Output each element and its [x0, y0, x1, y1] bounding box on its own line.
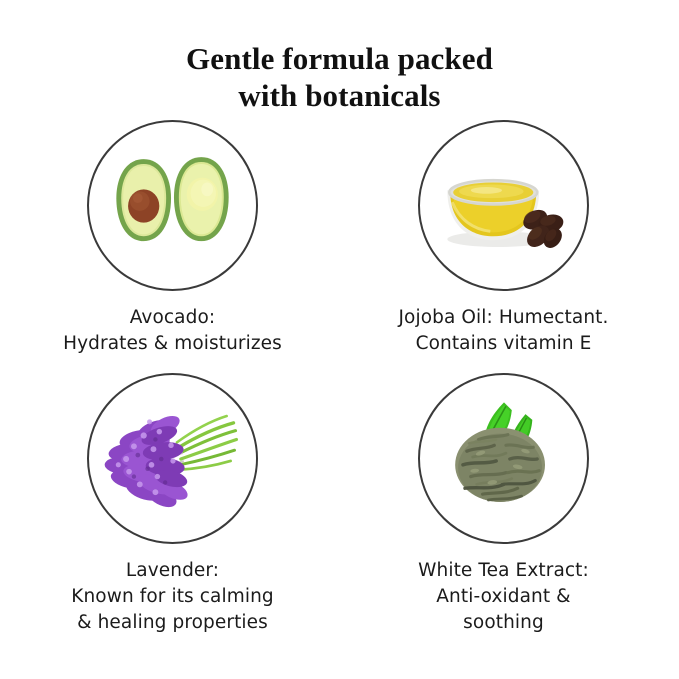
ingredient-caption-avocado: Avocado: Hydrates & moisturizes	[3, 305, 342, 357]
page-title-line-1: Gentle formula packed	[0, 40, 679, 77]
ingredient-circle-lavender	[87, 373, 258, 544]
ingredient-caption-lavender: Lavender: Known for its calming & healin…	[3, 558, 342, 636]
caption-line: Contains vitamin E	[334, 331, 673, 357]
ingredient-card-white-tea-extract: White Tea Extract: Anti-oxidant & soothi…	[334, 365, 673, 636]
ingredient-circle-white-tea-extract	[418, 373, 589, 544]
caption-line: & healing properties	[3, 610, 342, 636]
avocado-halves-icon	[89, 122, 256, 289]
ingredient-caption-jojoba-oil: Jojoba Oil: Humectant. Contains vitamin …	[334, 305, 673, 357]
dried-tea-leaves-icon	[420, 375, 587, 542]
oil-bowl-with-seeds-icon	[420, 122, 587, 289]
ingredient-caption-white-tea-extract: White Tea Extract: Anti-oxidant & soothi…	[334, 558, 673, 636]
caption-line: Lavender:	[3, 558, 342, 584]
lavender-bouquet-icon	[89, 375, 256, 542]
caption-line: Avocado:	[3, 305, 342, 331]
page-title: Gentle formula packed with botanicals	[0, 40, 679, 114]
ingredient-circle-jojoba-oil	[418, 120, 589, 291]
caption-line: Anti-oxidant &	[334, 584, 673, 610]
caption-line: Jojoba Oil: Humectant.	[334, 305, 673, 331]
ingredient-grid: Avocado: Hydrates & moisturizes	[0, 112, 679, 672]
caption-line: White Tea Extract:	[334, 558, 673, 584]
ingredient-card-jojoba-oil: Jojoba Oil: Humectant. Contains vitamin …	[334, 112, 673, 357]
caption-line: soothing	[334, 610, 673, 636]
caption-line: Known for its calming	[3, 584, 342, 610]
page-title-line-2: with botanicals	[0, 77, 679, 114]
caption-line: Hydrates & moisturizes	[3, 331, 342, 357]
ingredient-card-lavender: Lavender: Known for its calming & healin…	[3, 365, 342, 636]
ingredient-circle-avocado	[87, 120, 258, 291]
ingredient-card-avocado: Avocado: Hydrates & moisturizes	[3, 112, 342, 357]
